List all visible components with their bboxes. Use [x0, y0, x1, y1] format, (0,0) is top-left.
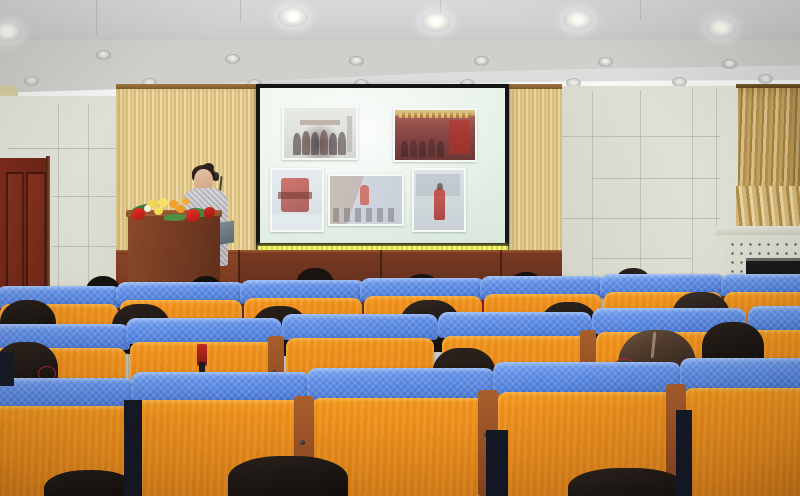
attendee-head — [228, 456, 348, 496]
ceiling-recessed-spot-icon — [96, 50, 111, 60]
slide-photo-1-banner — [300, 120, 340, 125]
attendee-shoulder — [676, 410, 692, 496]
attendee-shoulder — [0, 352, 14, 386]
ceiling-recessed-spot-icon — [758, 74, 773, 84]
red-anthurium — [132, 208, 145, 220]
red-anthurium — [204, 207, 215, 218]
figure — [311, 132, 319, 155]
seat-fastener — [300, 440, 305, 445]
attendee-head — [44, 470, 136, 496]
slide-photo-1-column — [347, 116, 352, 152]
wall-seam — [560, 136, 720, 137]
conference-hall-photo — [0, 0, 800, 496]
figure — [437, 141, 444, 157]
ceiling-recessed-spot-icon — [722, 59, 737, 69]
figure — [419, 141, 426, 157]
ceiling-recessed-spot-icon — [598, 57, 613, 67]
figure — [401, 141, 408, 157]
slide-photo-2 — [393, 108, 477, 162]
wall-seam — [592, 178, 720, 179]
slide-photo-5-head — [437, 183, 443, 190]
yellow-flower — [154, 207, 163, 215]
seat-pocket-item-cap — [199, 362, 205, 372]
white-flower — [144, 205, 151, 212]
wall-seam — [560, 218, 720, 219]
ceiling-recessed-spot-icon — [349, 56, 364, 66]
ceiling-seam — [96, 0, 97, 34]
projection-screen[interactable] — [260, 88, 505, 243]
slide-photo-5-person — [434, 188, 445, 220]
figure — [329, 133, 337, 155]
figure — [338, 132, 346, 155]
ceiling-downlight-icon — [278, 7, 308, 27]
window-sill — [716, 226, 800, 235]
figure — [320, 130, 328, 155]
attendee-shoulder — [486, 430, 508, 496]
slide-photo-4-audience — [333, 208, 399, 222]
red-anthurium — [186, 209, 200, 222]
ceiling-recessed-spot-icon — [24, 76, 39, 86]
ceiling-seam — [240, 0, 241, 22]
wall-seam — [592, 258, 692, 259]
attendee-shoulder — [124, 400, 142, 496]
slide-photo-3 — [270, 168, 324, 232]
attendee-head — [568, 468, 686, 496]
slide-photo-2-banner — [449, 120, 469, 154]
orange-flower — [182, 198, 190, 205]
figure — [410, 140, 417, 157]
figure — [428, 139, 435, 157]
curtain-gather — [736, 186, 800, 230]
orange-flower — [176, 205, 185, 213]
figure — [293, 133, 301, 155]
foliage-leaf — [164, 213, 186, 222]
ceiling-seam — [640, 0, 641, 20]
ceiling-downlight-icon — [706, 18, 736, 38]
slide-photo-3-machine-arm — [278, 192, 312, 199]
ceiling-downlight-icon — [563, 10, 593, 30]
ceiling-downlight-icon — [421, 12, 451, 32]
ceiling-recessed-spot-icon — [225, 54, 240, 64]
ceiling-upper-plane — [0, 0, 800, 40]
slide-photo-4-presenter — [360, 185, 369, 205]
wall-seam — [716, 88, 717, 236]
ceiling-recessed-spot-icon — [474, 56, 489, 66]
slide-photo-2-stagelight — [399, 113, 471, 118]
figure — [302, 131, 310, 155]
slide-photo-5 — [412, 168, 466, 232]
podium-flower-arrangement — [128, 196, 228, 222]
slide-photo-1 — [282, 106, 358, 160]
seat[interactable] — [684, 358, 800, 496]
yellow-flower — [158, 198, 168, 207]
slide-photo-3-ground — [272, 214, 322, 230]
slide-photo-4 — [328, 174, 404, 226]
